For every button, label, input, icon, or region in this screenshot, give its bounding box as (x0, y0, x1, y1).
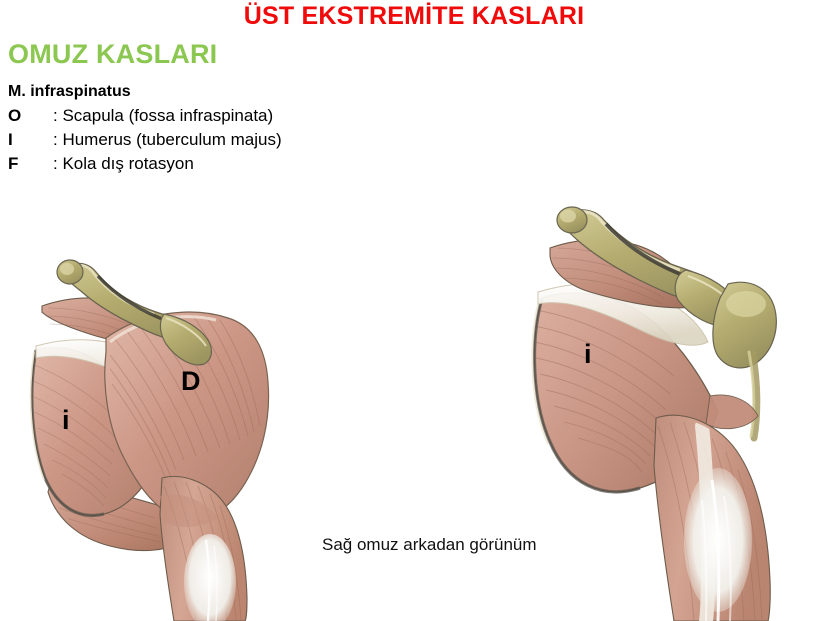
label-deltoid-left: D (181, 368, 201, 395)
fact-origin-value: : Scapula (fossa infraspinata) (53, 106, 273, 125)
fact-origin: O: Scapula (fossa infraspinata) (8, 106, 273, 126)
slide-root: ÜST EKSTREMİTE KASLARI OMUZ KASLARI M. i… (0, 0, 828, 621)
page-title: ÜST EKSTREMİTE KASLARI (0, 2, 828, 31)
muscle-name-heading: M. infraspinatus (8, 83, 131, 101)
fact-function: F: Kola dış rotasyon (8, 154, 194, 174)
fact-insertion-value: : Humerus (tuberculum majus) (53, 130, 282, 149)
label-infraspinatus-right: i (584, 341, 592, 368)
figure-caption: Sağ omuz arkadan görünüm (322, 535, 537, 555)
anatomy-figure-right (506, 200, 828, 621)
fact-function-value: : Kola dış rotasyon (53, 154, 194, 173)
fact-function-key: F (8, 154, 53, 174)
fact-insertion: I: Humerus (tuberculum majus) (8, 130, 282, 150)
anatomy-figure-left (14, 246, 314, 621)
section-title: OMUZ KASLARI (8, 39, 217, 70)
fact-insertion-key: I (8, 130, 53, 150)
fact-origin-key: O (8, 106, 53, 126)
teres-minor-muscle-right (706, 395, 758, 429)
label-infraspinatus-left: i (62, 407, 70, 434)
upper-arm-triceps-right (654, 415, 770, 621)
